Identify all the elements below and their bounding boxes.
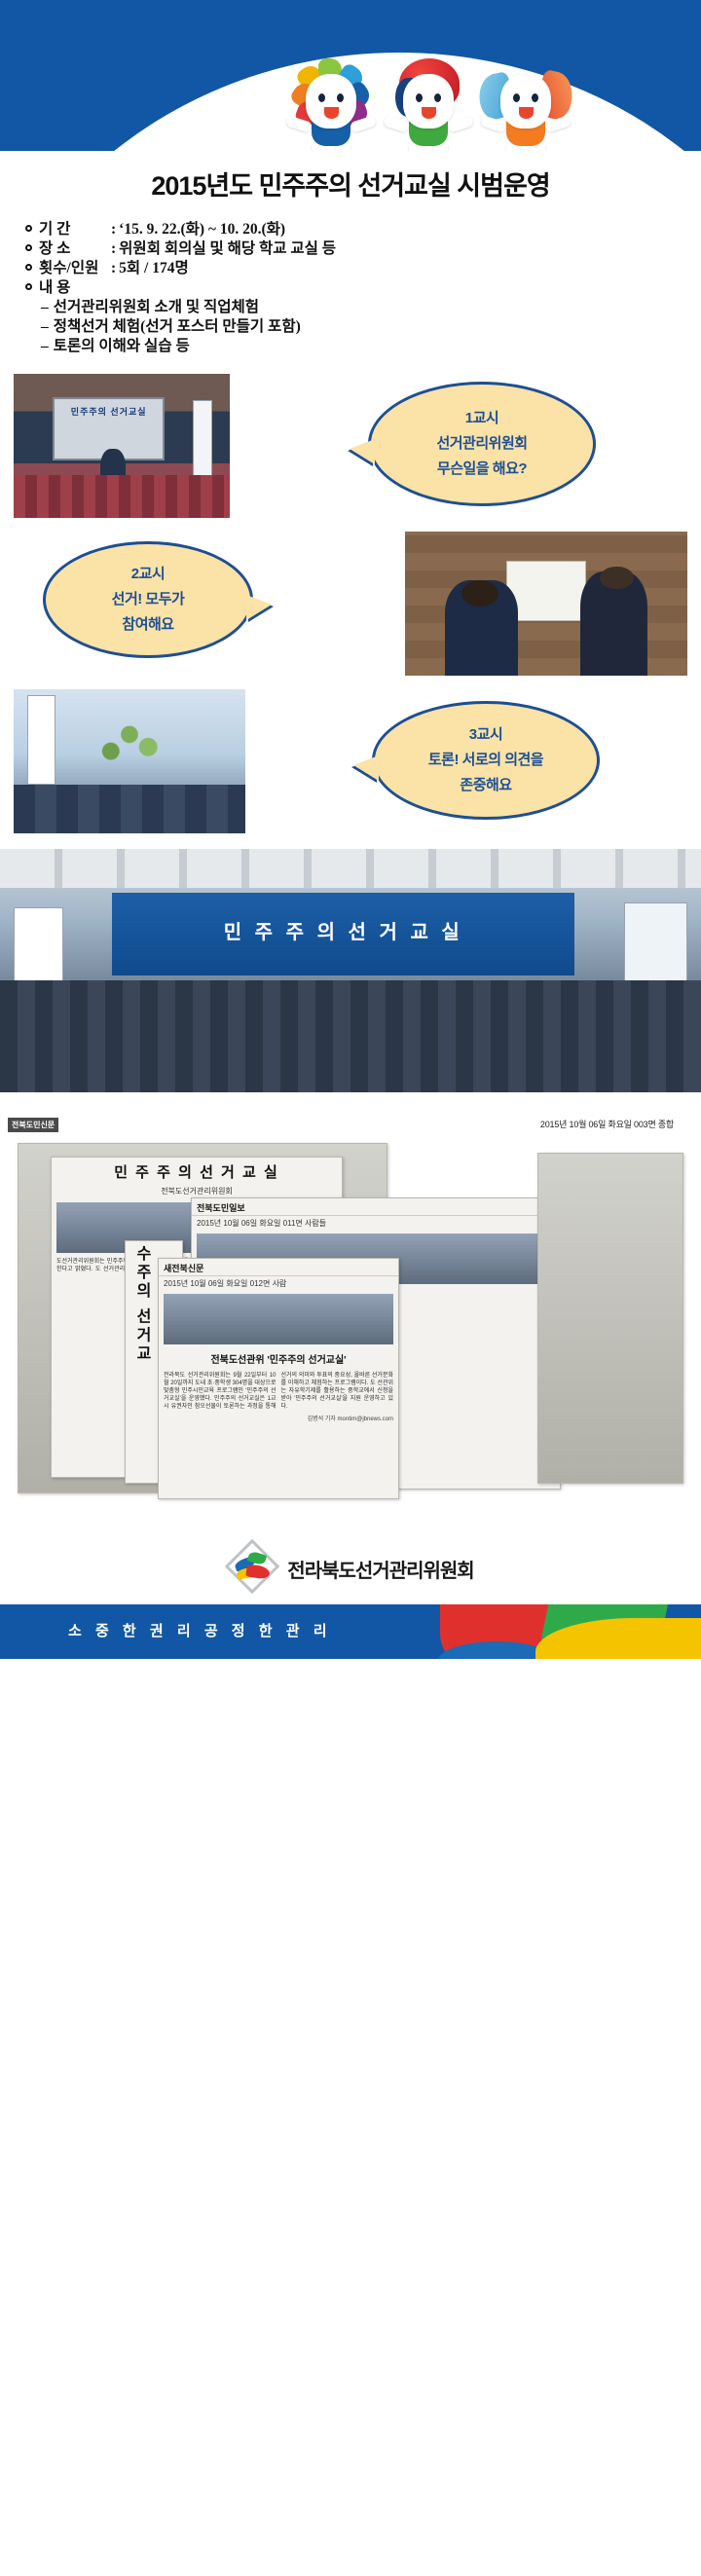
lesson-period: 2교시 [131,562,165,587]
auditorium-seats [14,475,230,518]
info-subitem-2: – 정책선거 체험(선거 포스터 만들기 포함) [41,317,701,337]
bullet-circle-icon [25,264,32,271]
lesson-row-2: 2교시 선거! 모두가 참여해요 [0,532,701,678]
info-label: 기 간 [39,220,111,239]
news-clip-3-masthead: 새전북신문 [159,1259,398,1276]
poster-header [0,0,701,151]
info-row-period: 기 간 : ‘15. 9. 22.(화) ~ 10. 20.(화) [25,220,701,239]
footer-bar: 소 중 한 권 리 공 정 한 관 리 [0,1604,701,1659]
dash-icon: – [41,298,49,317]
info-row-place: 장 소 : 위원회 회의실 및 해당 학교 교실 등 [25,239,701,259]
student-crowd [0,980,701,1092]
news-clip-background-right [537,1153,683,1484]
dash-icon: – [41,317,49,337]
bubble-tail-icon [353,755,379,781]
info-subitem-text: 정책선거 체험(선거 포스터 만들기 포함) [54,317,301,337]
mascot-face [306,74,356,129]
news-clippings-section: 전북도민신문 2015년 10월 06일 화요일 003면 종합 민 주 주 의… [0,1114,701,1532]
info-label: 장 소 [39,239,111,259]
poster-page: 2015년도 민주주의 선거교실 시범운영 기 간 : ‘15. 9. 22.(… [0,0,701,2576]
lesson-line-3: 참여해요 [122,612,173,638]
lesson-1-speech-bubble: 1교시 선거관리위원회 무슨일을 해요? [368,382,596,506]
info-row-content: 내 용 [25,278,701,298]
nec-logo [227,1545,277,1592]
lesson-line-2: 토론! 서로의 의견을 [428,748,543,773]
news-clip-3-photo [164,1294,393,1344]
vertical-banner [27,695,55,785]
news-source-tag: 전북도민신문 [8,1118,58,1132]
lesson-1-photo: 민주주의 선거교실 [14,374,230,518]
news-clip-3: 새전북신문 2015년 10월 06일 화요일 012면 사람 전북도선관위 '… [158,1258,399,1499]
info-subitem-3: – 토론의 이해와 실습 등 [41,337,701,356]
info-subitem-text: 토론의 이해와 실습 등 [54,337,190,356]
dash-icon: – [41,337,49,356]
lesson-3-speech-bubble: 3교시 토론! 서로의 의견을 존중해요 [372,701,600,820]
lesson-line-3: 존중해요 [460,773,511,798]
screen-caption: 민주주의 선거교실 [55,405,163,418]
vertical-banner [193,400,212,484]
election-poster [506,561,585,621]
bullet-circle-icon [25,225,32,232]
info-subitem-1: – 선거관리위원회 소개 및 직업체험 [41,298,701,317]
info-list: 기 간 : ‘15. 9. 22.(화) ~ 10. 20.(화) 장 소 : … [25,220,701,356]
students-group [14,785,245,833]
info-row-count: 횟수/인원 : 5회 / 174명 [25,259,701,278]
news-clip-3-byline: 김병석 기자 montim@jbnews.com [159,1413,398,1425]
lesson-2-speech-bubble: 2교시 선거! 모두가 참여해요 [43,541,253,658]
info-value: 위원회 회의실 및 해당 학교 교실 등 [119,239,336,259]
footer-slogan: 소 중 한 권 리 공 정 한 관 리 [68,1620,332,1640]
info-value: ‘15. 9. 22.(화) ~ 10. 20.(화) [119,220,285,239]
bullet-circle-icon [25,244,32,251]
stage-backdrop: 민 주 주 의 선 거 교 실 [112,893,574,975]
lesson-period: 1교시 [465,406,498,431]
lesson-row-3: 3교시 토론! 서로의 의견을 존중해요 [0,689,701,835]
news-clip-3-body: 전라북도 선거관리위원회는 9월 22일부터 10월 20일까지 도내 초·중학… [159,1370,398,1413]
footer-organization: 전라북도선거관리위원회 [287,1555,473,1583]
bubble-tail-icon [350,439,375,464]
news-clip-2-date: 2015년 10월 06일 화요일 011면 사람들 [192,1216,560,1231]
info-subitem-text: 선거관리위원회 소개 및 직업체험 [54,298,259,317]
lesson-period: 3교시 [469,722,502,748]
lesson-line-2: 선거! 모두가 [112,587,185,612]
lesson-2-photo [405,532,687,676]
bubble-tail-icon [246,595,272,620]
news-clip-3-headline: 전북도선관위 '민주주의 선거교실' [159,1347,398,1370]
page-title: 2015년도 민주주의 선거교실 시범운영 [0,165,701,202]
title-block: 2015년도 민주주의 선거교실 시범운영 [0,151,701,202]
lesson-3-photo [14,689,245,833]
wing-mascot [479,56,572,151]
mascot-face [403,74,454,129]
news-dateline: 2015년 10월 06일 화요일 003면 종합 [540,1118,674,1130]
mascot-face [500,74,551,129]
group-photo: 민 주 주 의 선 거 교 실 [0,849,701,1092]
footer-logo-area: 전라북도선거관리위원회 [0,1532,701,1604]
info-label: 내 용 [39,278,111,298]
info-value: 5회 / 174명 [119,259,189,278]
news-clip-3-date: 2015년 10월 06일 화요일 012면 사람 [159,1276,398,1291]
opinion-tree [83,701,175,785]
rainbow-mascot [284,56,378,151]
stage-banner-text: 민 주 주 의 선 거 교 실 [112,893,574,944]
ceiling-lights [0,849,701,888]
news-clip-1-headline: 민 주 주 의 선 거 교 실 [52,1158,342,1186]
red-hair-mascot [382,56,475,151]
news-clip-vertical-text: 수주의 선거교 [126,1241,157,1367]
mascot-group [282,51,574,151]
news-clip-2-masthead: 전북도민일보 [192,1198,560,1216]
info-label: 횟수/인원 [39,259,111,278]
lesson-line-3: 무슨일을 해요? [437,457,527,482]
lesson-line-2: 선거관리위원회 [436,431,527,457]
bullet-circle-icon [25,283,32,290]
lesson-row-1: 민주주의 선거교실 1교시 선거관리위원회 무슨일을 해요? [0,374,701,520]
